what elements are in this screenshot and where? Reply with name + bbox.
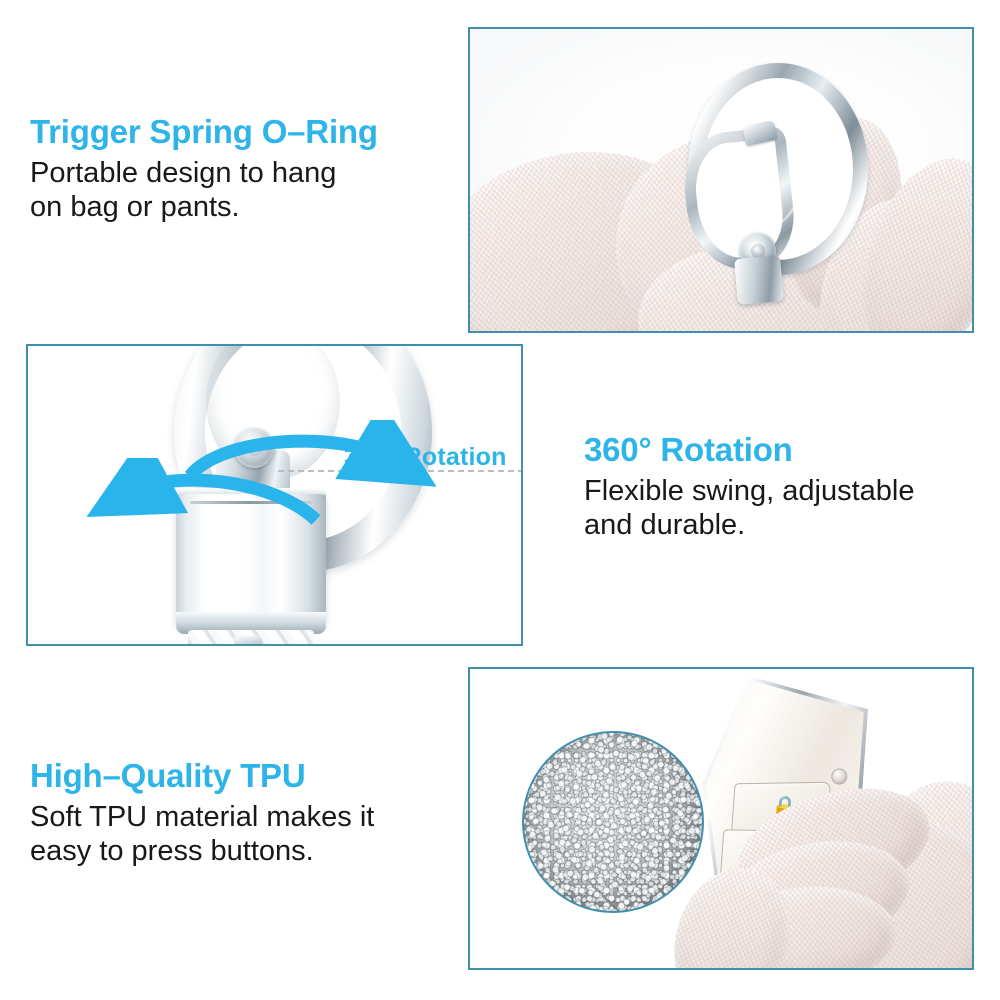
feature-description: Portable design to hang on bag or pants.	[30, 156, 378, 226]
feature-text-360-rotation: 360° Rotation Flexible swing, adjustable…	[584, 432, 914, 543]
feature-description-line: and durable.	[584, 508, 914, 543]
feature-description-line: Soft TPU material makes it	[30, 800, 374, 835]
strap-bolt	[234, 636, 262, 646]
rotate-arrow-lower-left-icon	[76, 458, 366, 534]
infographic-page: Trigger Spring O–Ring Portable design to…	[0, 0, 1000, 1000]
feature-description-line: Portable design to hang	[30, 156, 378, 191]
chrome-swivel-barrel-photo: 360° Rotation	[28, 346, 521, 644]
feature-title: High–Quality TPU	[30, 758, 374, 794]
feature-description-line: on bag or pants.	[30, 190, 378, 225]
feature-text-high-quality-tpu: High–Quality TPU Soft TPU material makes…	[30, 758, 374, 869]
feature-description: Flexible swing, adjustable and durable.	[584, 474, 914, 544]
snap-hook-stem	[734, 255, 784, 305]
feature-description-line: Flexible swing, adjustable	[584, 474, 914, 509]
photo-panel-trigger-snap-hook	[468, 27, 974, 333]
feature-title: 360° Rotation	[584, 432, 914, 468]
trigger-snap-hook	[666, 57, 874, 287]
feature-description: Soft TPU material makes it easy to press…	[30, 800, 374, 870]
tpu-pellets-circle	[522, 731, 704, 913]
photo-panel-high-quality-tpu: 🔒 ⤴ x2 🔓	[468, 667, 974, 970]
snap-hook-spring-gate	[679, 126, 799, 274]
feature-text-trigger-spring-o-ring: Trigger Spring O–Ring Portable design to…	[30, 114, 378, 225]
feature-description-line: easy to press buttons.	[30, 834, 374, 869]
photo-panel-360-rotation: 360° Rotation	[26, 344, 523, 646]
gloved-hand-holding-trigger-snap-hook-photo	[470, 29, 972, 331]
tpu-pellets-and-key-fob-photo: 🔒 ⤴ x2 🔓	[470, 669, 972, 968]
feature-title: Trigger Spring O–Ring	[30, 114, 378, 150]
rotation-callout-label: 360° Rotation	[344, 443, 507, 472]
tpu-pellet-texture-overlay	[522, 731, 704, 913]
